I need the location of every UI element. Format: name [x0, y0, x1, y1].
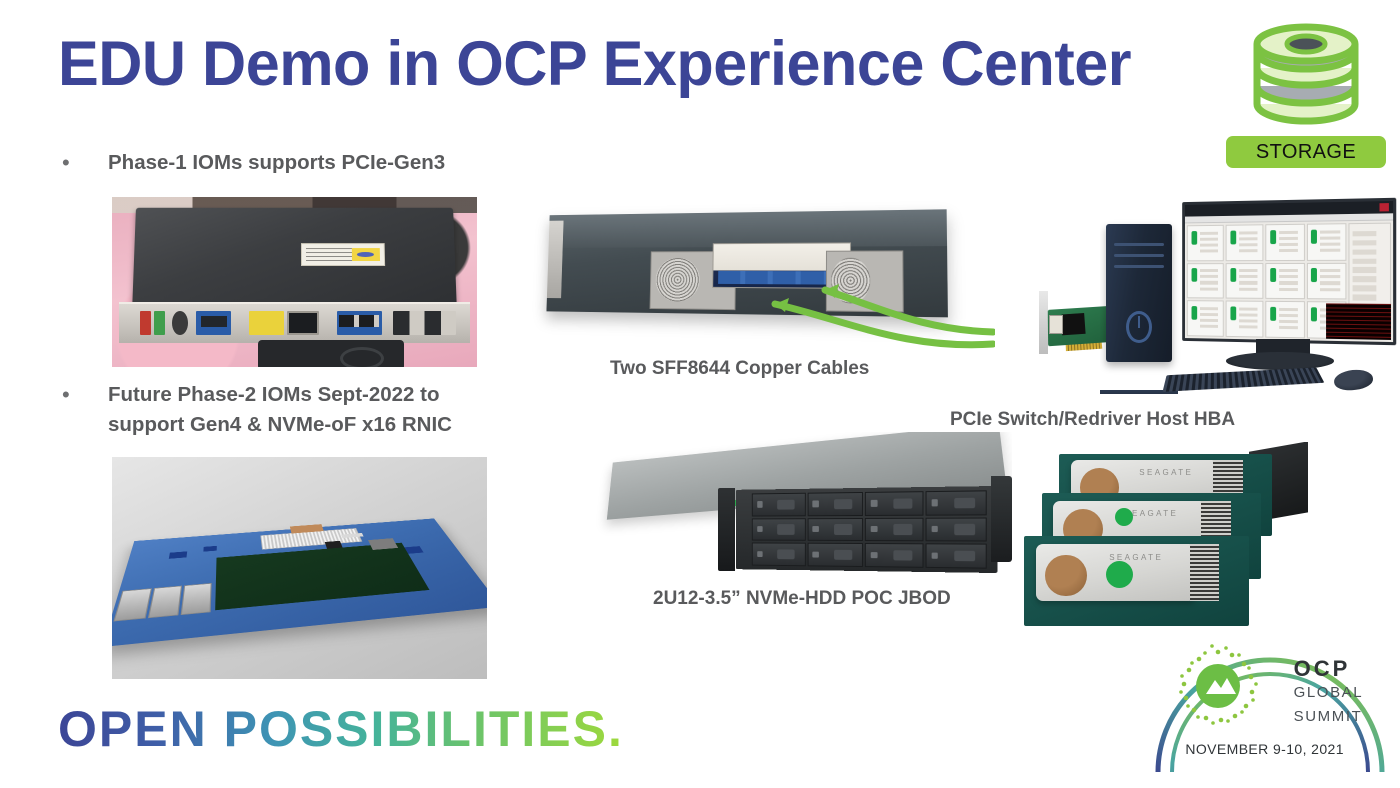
seagate-drive-1: SEAGATE — [1036, 544, 1196, 601]
ocp-event-date: NOVEMBER 9-10, 2021 — [1185, 741, 1344, 757]
drive-led-icon — [1230, 230, 1236, 244]
card-bracket — [1039, 291, 1047, 353]
drive-activity-led-icon — [1106, 561, 1133, 588]
sas-port-bank — [393, 311, 456, 335]
drive-activity-led-icon — [1115, 508, 1133, 526]
caption-jbod: 2U12-3.5” NVMe-HDD POC JBOD — [653, 588, 951, 610]
seagate-logo-icon — [1122, 466, 1138, 482]
drive-bay — [808, 492, 864, 516]
drive-led-icon — [1230, 268, 1236, 282]
phase-1-iom-photo — [112, 197, 477, 367]
vent-slot — [1114, 254, 1164, 257]
iom-chassis-top — [132, 208, 457, 313]
sff8644-port — [1049, 315, 1063, 334]
controller-chip — [1061, 313, 1085, 335]
disk-stack-icon — [1247, 18, 1365, 130]
bay-latch — [871, 500, 878, 507]
bullet-text-phase-1: Phase-1 IOMs supports PCIe-Gen3 — [108, 148, 445, 178]
drive-bay — [926, 517, 987, 542]
panel-knob — [172, 311, 188, 335]
bullet-text-phase-2: Future Phase-2 IOMs Sept-2022 to support… — [108, 380, 452, 440]
drive-status-cell — [1187, 300, 1224, 336]
drive-status-cell — [1266, 224, 1305, 261]
mouse — [1333, 368, 1374, 392]
drive-led-icon — [1311, 268, 1317, 282]
bay-latch — [813, 526, 819, 532]
rj45-port — [114, 588, 152, 621]
drive-status-cell — [1307, 223, 1347, 260]
drive-bay — [808, 543, 864, 567]
vent-slot — [1114, 243, 1164, 246]
drive-copper-circle — [1045, 555, 1087, 597]
capacitor — [404, 546, 424, 554]
bay-latch — [757, 551, 763, 557]
ocp-wordmark: OCP — [1294, 656, 1351, 682]
drive-led-icon — [1270, 307, 1276, 321]
ocp-global-summit-logo: OCP GLOBAL SUMMIT NOVEMBER 9-10, 2021 — [1146, 622, 1392, 778]
tagline-open-possibilities: OPEN POSSIBILITIES. — [58, 700, 624, 758]
monitor-base — [1226, 352, 1334, 370]
drive-led-icon — [1230, 306, 1236, 320]
drive-led-icon — [1191, 231, 1197, 244]
bay-latch — [813, 501, 819, 507]
drive-bay — [808, 518, 864, 542]
bullet-item-phase-2: • Future Phase-2 IOMs Sept-2022 to suppo… — [62, 380, 532, 440]
seagate-wordmark: SEAGATE — [1139, 468, 1193, 477]
drive-status-cell — [1266, 262, 1305, 299]
bay-latch — [813, 551, 819, 557]
rj45-connector-bank — [114, 583, 212, 621]
blue-connector-2 — [337, 311, 383, 335]
vent-slot — [1114, 265, 1164, 268]
daughter-card — [215, 542, 430, 610]
drive-status-cell — [1187, 263, 1224, 299]
copper-cable-group — [525, 192, 995, 357]
power-button-icon[interactable] — [1126, 311, 1152, 343]
jbod-rack-ear-left — [718, 488, 735, 571]
label-yellow-sticker — [352, 248, 380, 261]
drive-status-cell — [1266, 301, 1305, 338]
caption-host-hba: PCIe Switch/Redriver Host HBA — [950, 409, 1235, 431]
enclosure-rear-view — [525, 192, 995, 357]
drive-bay — [752, 518, 806, 541]
drive-connector-strip — [1190, 544, 1220, 601]
phase-2-iom-cad-render — [112, 457, 487, 679]
bay-latch — [757, 502, 763, 508]
bullet-marker-icon: • — [62, 380, 108, 440]
led-green-icon — [154, 311, 165, 335]
bay-latch — [871, 552, 878, 559]
storage-tag: STORAGE — [1226, 18, 1386, 168]
asic-chip — [368, 538, 398, 550]
drive-led-icon — [1270, 268, 1276, 282]
drive-bay — [866, 518, 924, 542]
host-pc-system — [1100, 196, 1400, 394]
drive-status-cell — [1226, 300, 1264, 337]
jbod-rack-ear-right — [991, 476, 1012, 562]
drive-led-icon — [1270, 230, 1276, 244]
bay-latch — [871, 526, 878, 533]
sff-port — [287, 311, 319, 335]
terminal-window — [1326, 303, 1391, 340]
bullet-item-phase-1: • Phase-1 IOMs supports PCIe-Gen3 — [62, 148, 445, 178]
bay-latch — [932, 526, 939, 533]
pc-tower — [1106, 224, 1172, 363]
capacitor — [169, 551, 187, 558]
caption-copper-cables: Two SFF8644 Copper Cables — [610, 358, 869, 380]
drive-led-icon — [1191, 306, 1197, 319]
drive-led-icon — [1191, 268, 1197, 281]
pcie-edge-connector — [1065, 342, 1102, 351]
monitor-screen — [1182, 198, 1396, 345]
iom-product-label — [301, 243, 385, 266]
drive-status-grid — [1187, 223, 1346, 338]
led-red-icon — [140, 311, 151, 335]
seagate-drive-stack: SEAGATE SEAGATE SEAGATE — [1012, 442, 1308, 638]
bay-latch — [932, 500, 939, 507]
keyboard — [1163, 368, 1325, 392]
bullet-marker-icon: • — [62, 148, 108, 178]
capacitor — [203, 545, 216, 551]
bay-latch — [932, 552, 939, 559]
slide-canvas: EDU Demo in OCP Experience Center STORAG… — [0, 0, 1400, 788]
yellow-warning-label — [249, 311, 284, 335]
drive-bay — [752, 543, 806, 566]
page-title: EDU Demo in OCP Experience Center — [58, 28, 1131, 100]
storage-badge: STORAGE — [1226, 136, 1386, 168]
iom-handle — [258, 340, 404, 367]
drive-status-cell — [1226, 263, 1264, 299]
drive-status-cell — [1226, 224, 1264, 260]
drive-led-icon — [1311, 229, 1317, 243]
ocp-global-label: GLOBAL — [1294, 684, 1364, 701]
blue-connector-1 — [196, 311, 231, 335]
iom-front-panel — [119, 302, 469, 343]
label-text-lines — [306, 248, 352, 261]
drive-status-cell — [1187, 225, 1224, 261]
seagate-logo-icon — [1090, 551, 1108, 569]
drive-bay — [752, 493, 806, 516]
drive-led-icon — [1311, 307, 1317, 321]
drive-bay — [866, 491, 924, 515]
ocp-summit-label: SUMMIT — [1294, 708, 1363, 725]
bay-latch — [757, 526, 763, 532]
rj45-port — [148, 585, 182, 617]
drive-bay — [926, 544, 987, 569]
drive-bay — [866, 544, 924, 568]
jbod-drive-bays — [736, 486, 997, 573]
tagline-text: OPEN POSSIBILITIES. — [58, 701, 624, 757]
small-chip — [325, 540, 343, 548]
drive-bay — [926, 491, 987, 516]
rj45-port — [181, 583, 212, 615]
jbod-chassis — [592, 432, 1012, 580]
drive-status-cell — [1307, 262, 1347, 299]
